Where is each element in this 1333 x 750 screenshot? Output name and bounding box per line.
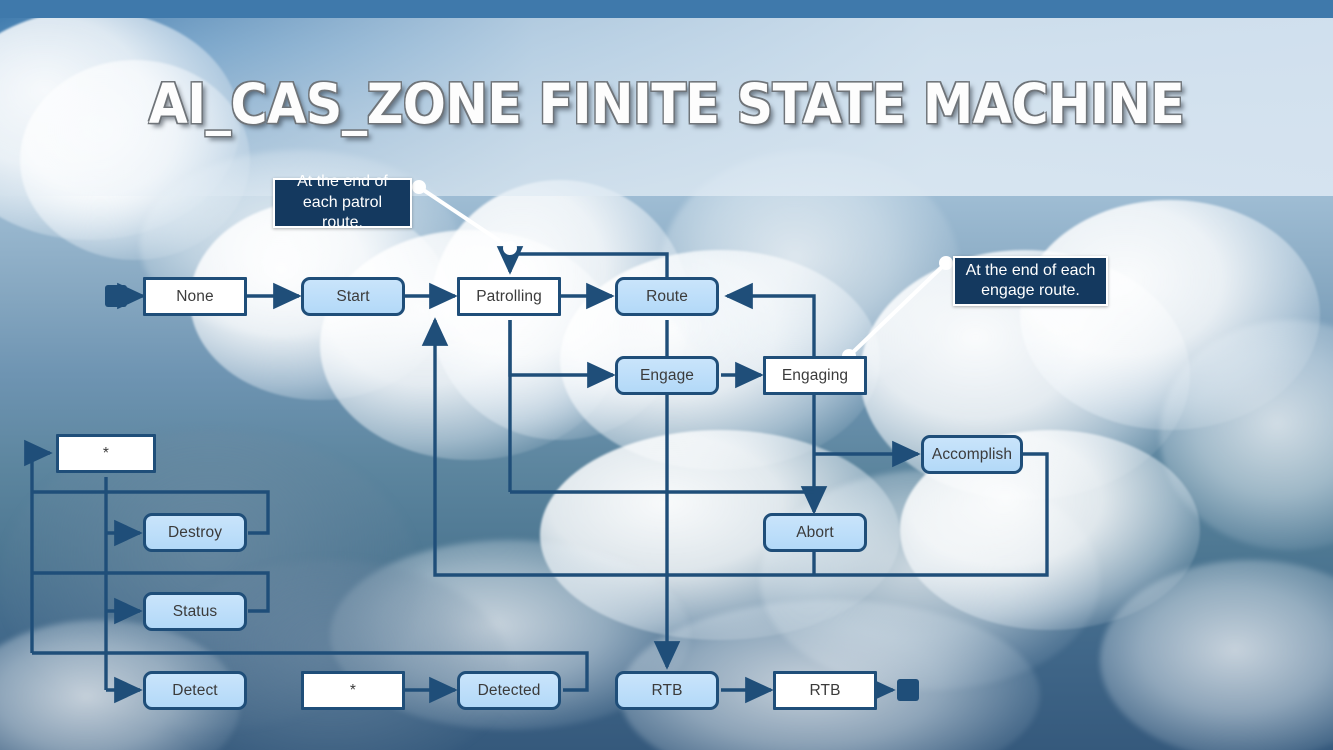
- node-route[interactable]: Route: [615, 277, 719, 316]
- node-any-state-top[interactable]: *: [56, 434, 156, 473]
- node-start[interactable]: Start: [301, 277, 405, 316]
- node-accomplish[interactable]: Accomplish: [921, 435, 1023, 474]
- node-detect[interactable]: Detect: [143, 671, 247, 710]
- node-rtb-event[interactable]: RTB: [615, 671, 719, 710]
- slide-canvas: AI_CAS_ZONE FINITE STATE MACHINE: [0, 0, 1333, 750]
- end-terminal: [897, 679, 919, 701]
- node-status[interactable]: Status: [143, 592, 247, 631]
- node-engaging[interactable]: Engaging: [763, 356, 867, 395]
- node-any-state-bottom[interactable]: *: [301, 671, 405, 710]
- top-strip: [0, 0, 1333, 18]
- page-title: AI_CAS_ZONE FINITE STATE MACHINE: [53, 72, 1279, 136]
- engage-route-callout: At the end of each engage route.: [953, 256, 1108, 306]
- node-detected[interactable]: Detected: [457, 671, 561, 710]
- patrol-route-callout: At the end of each patrol route.: [273, 178, 412, 228]
- node-destroy[interactable]: Destroy: [143, 513, 247, 552]
- node-rtb-state[interactable]: RTB: [773, 671, 877, 710]
- start-terminal: [105, 285, 127, 307]
- node-none[interactable]: None: [143, 277, 247, 316]
- node-engage[interactable]: Engage: [615, 356, 719, 395]
- node-abort[interactable]: Abort: [763, 513, 867, 552]
- node-patrolling[interactable]: Patrolling: [457, 277, 561, 316]
